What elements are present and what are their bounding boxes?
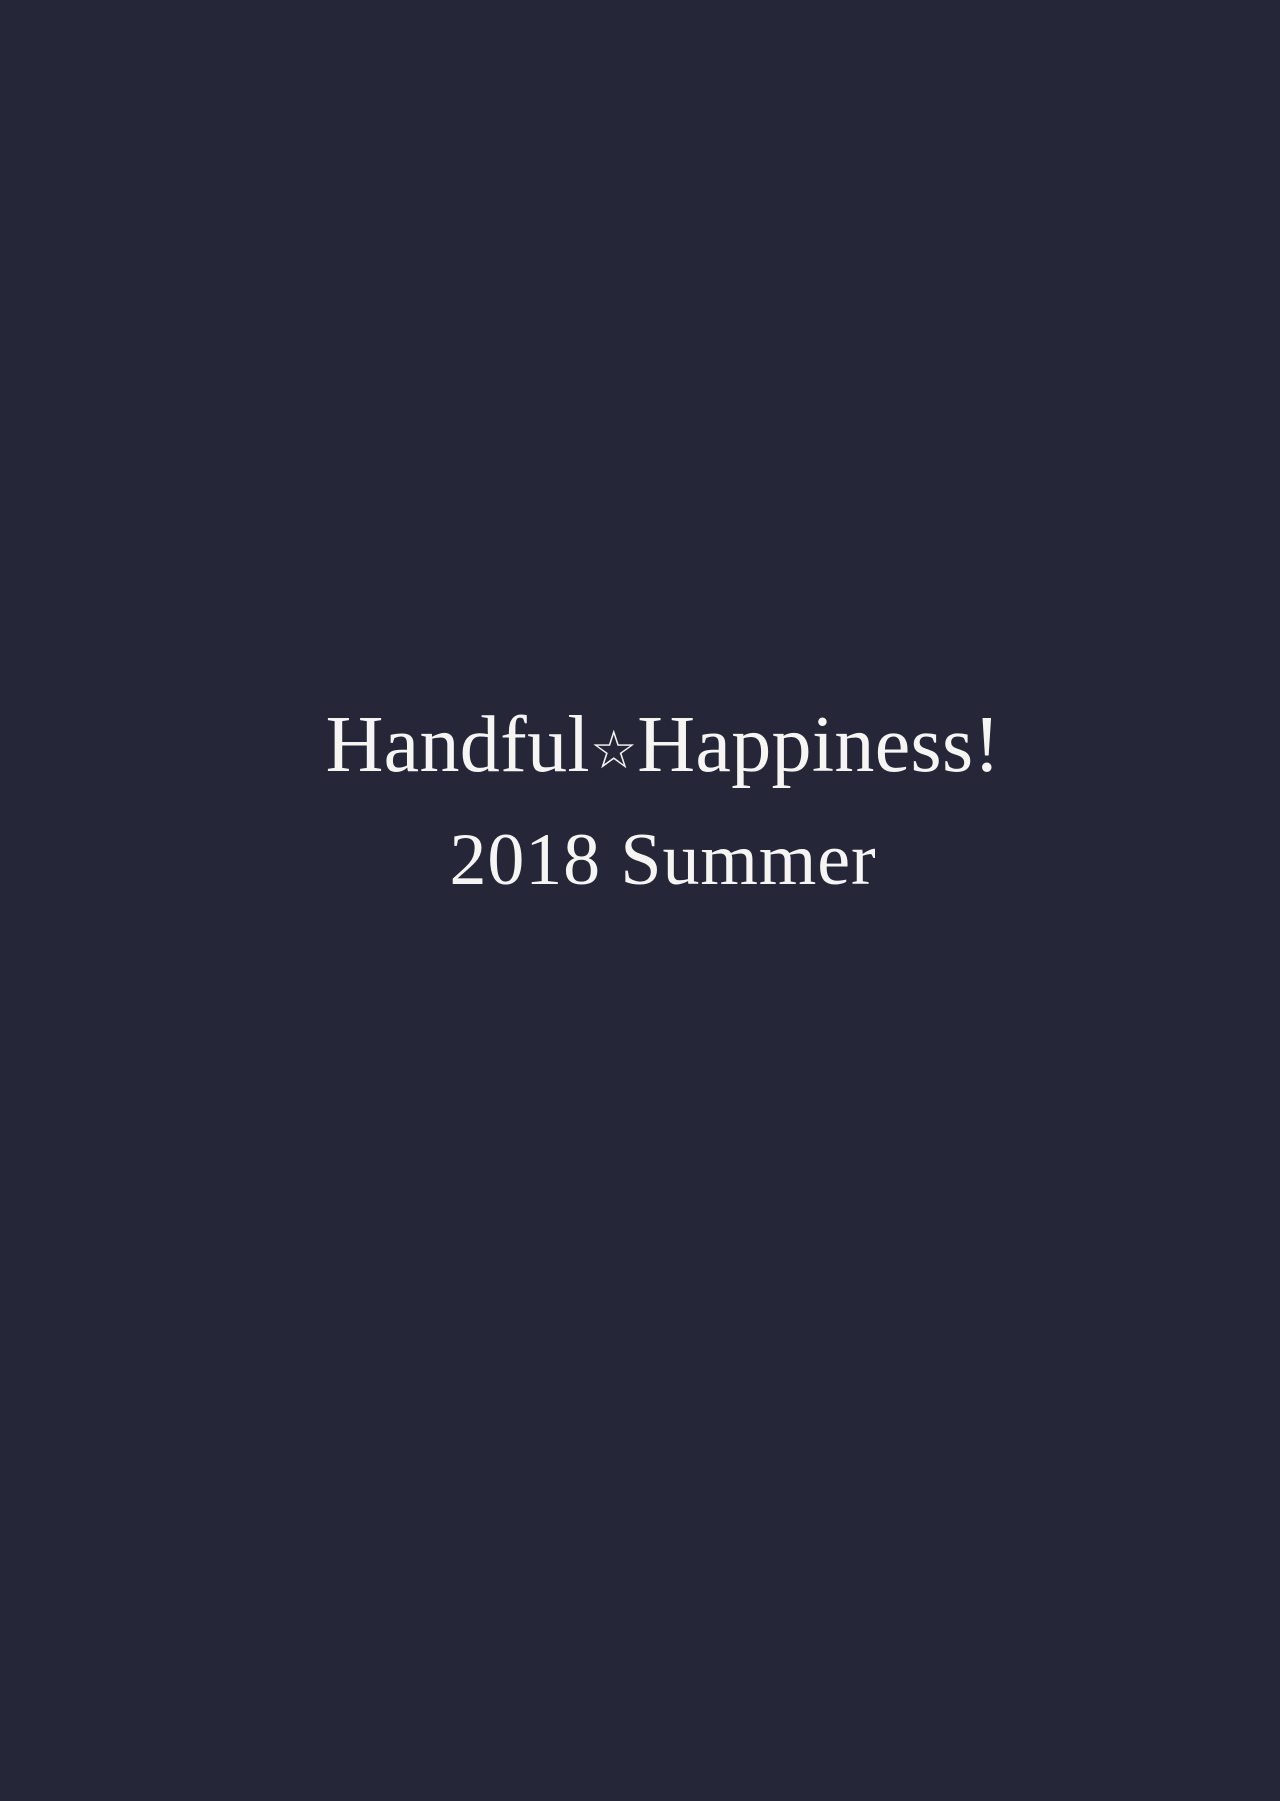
release-season: 2018 Summer — [46, 818, 1280, 902]
circle-title-suffix: Happiness! — [637, 701, 1000, 789]
outlined-star-icon: ☆ — [590, 722, 637, 780]
colophon-page: Handful☆Happiness! 2018 Summer — [0, 0, 1280, 1801]
circle-title-prefix: Handful — [326, 701, 590, 789]
colophon-block: Handful☆Happiness! 2018 Summer — [0, 700, 1280, 902]
circle-title: Handful☆Happiness! — [46, 700, 1280, 790]
